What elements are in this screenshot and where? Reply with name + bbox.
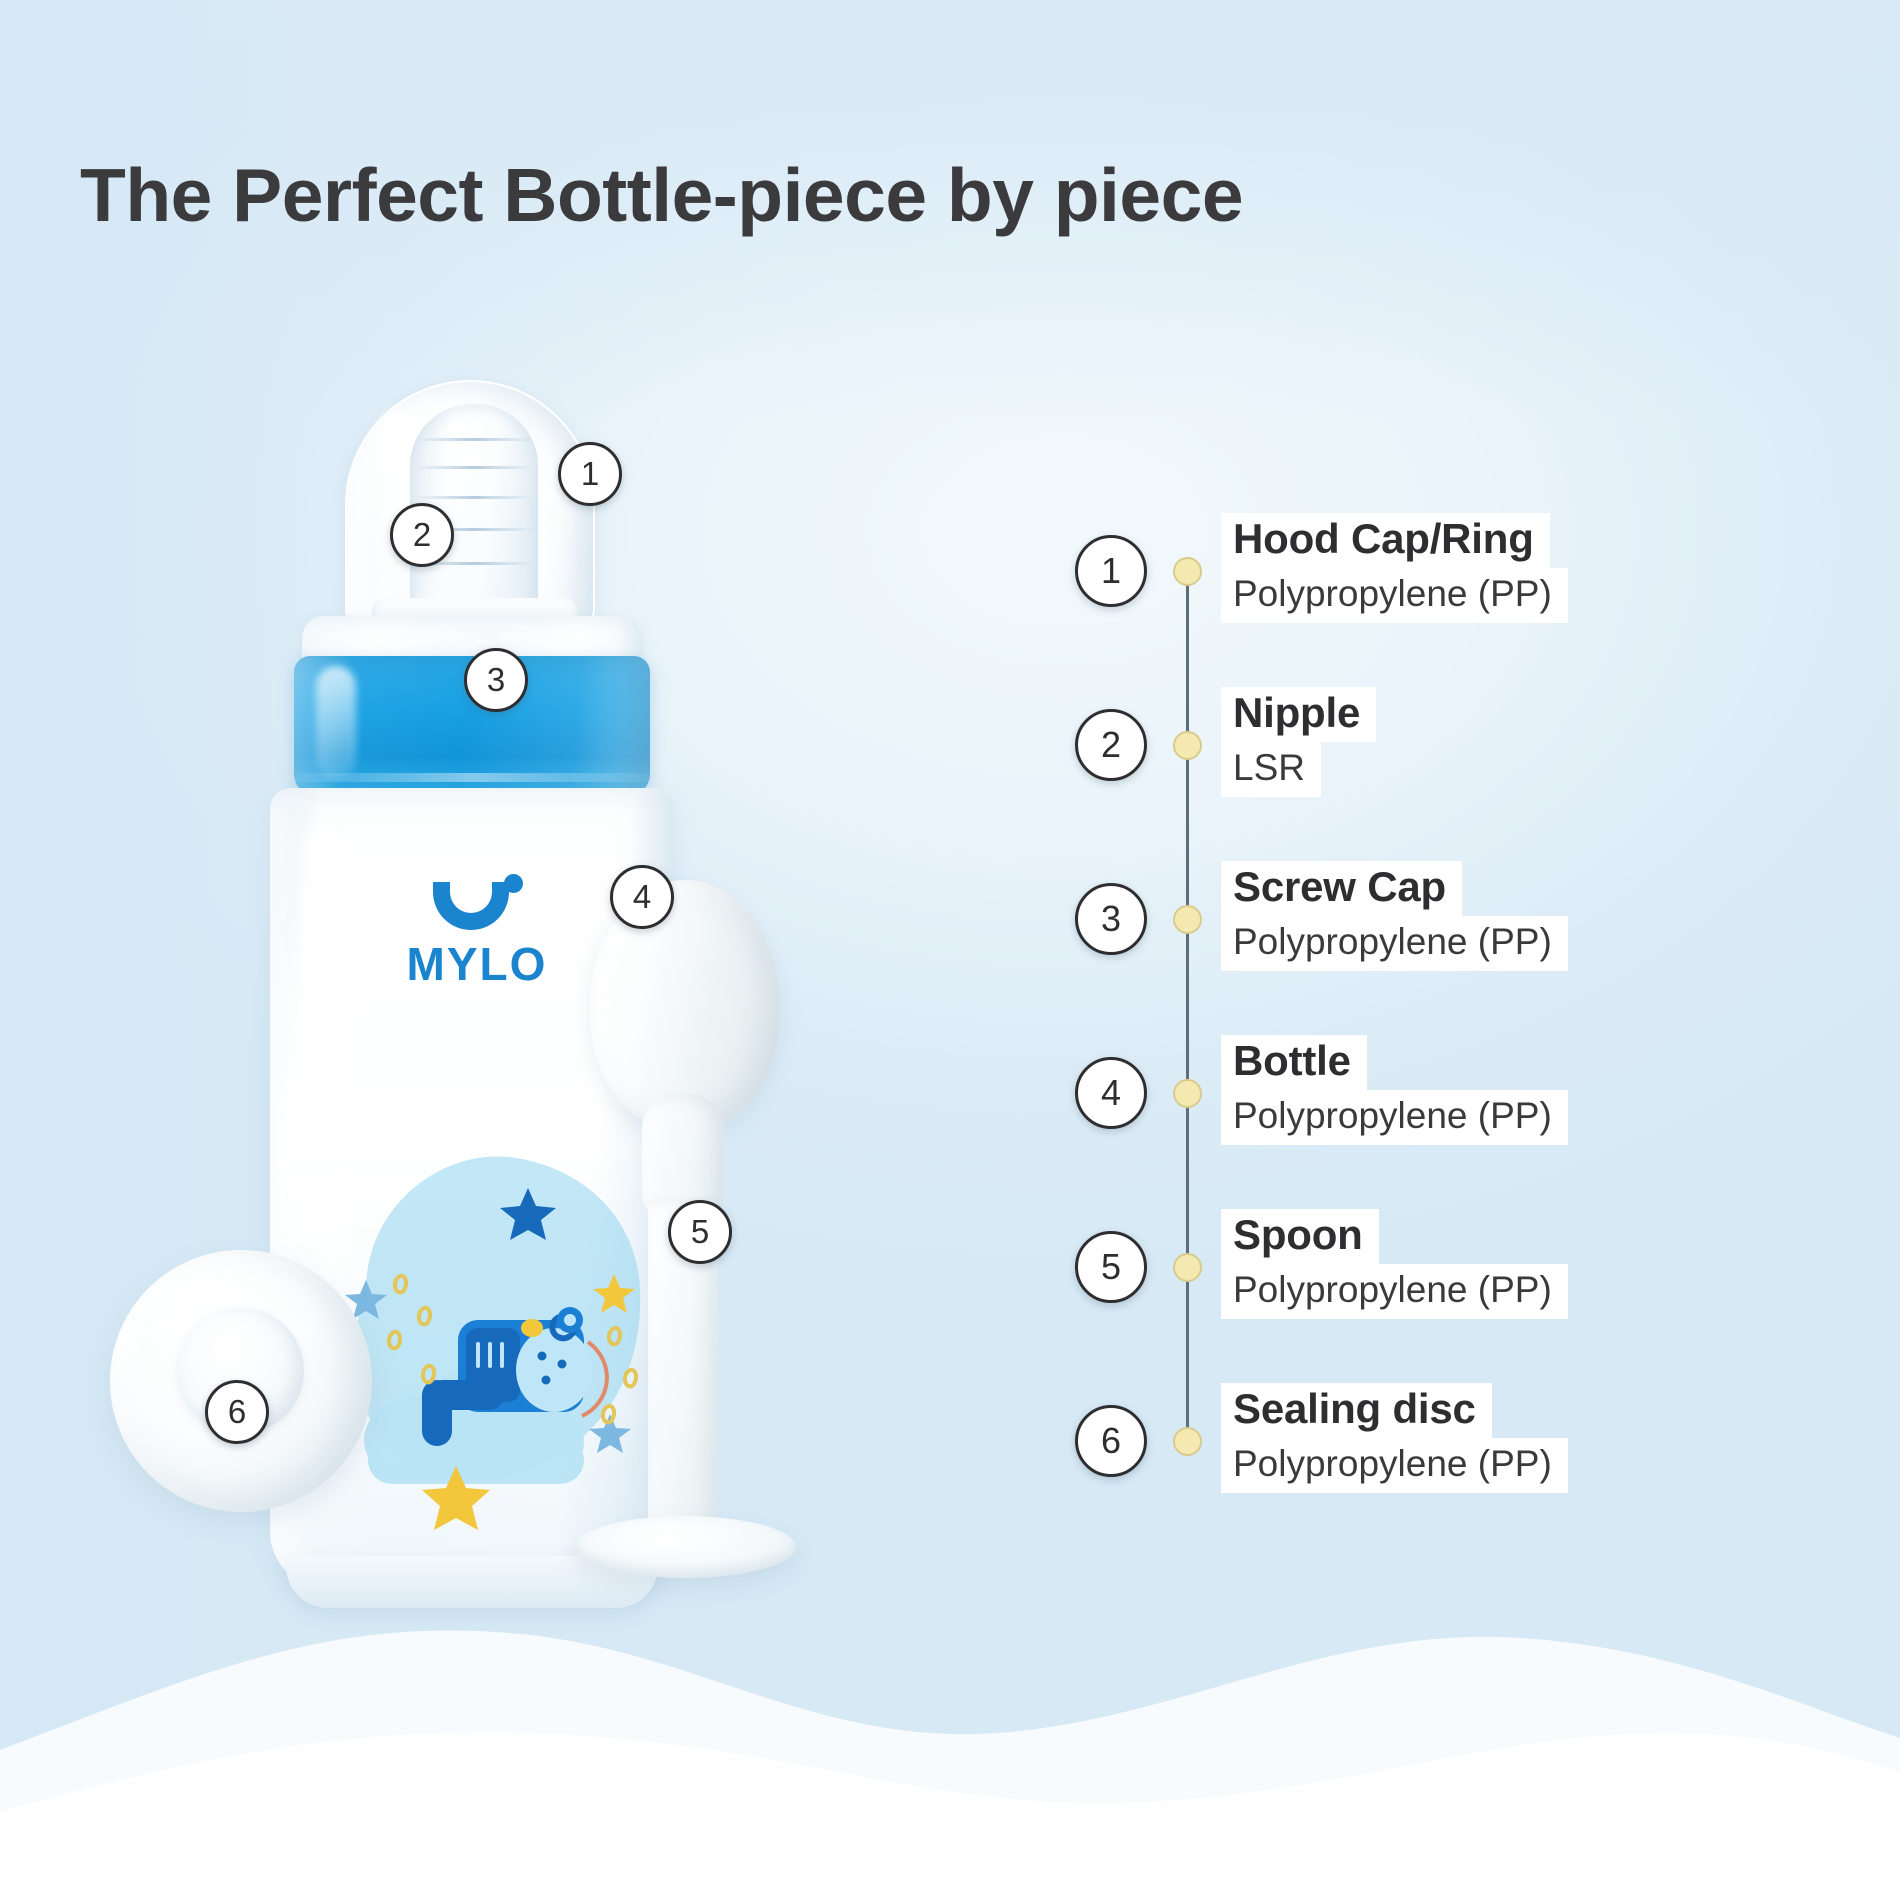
legend-text-3: Screw Cap Polypropylene (PP) <box>1221 861 1568 971</box>
legend-connector-dot-5 <box>1173 1253 1202 1282</box>
nipple-ridge <box>414 496 534 499</box>
legend-badge-2: 2 <box>1075 709 1147 781</box>
legend-title-6: Sealing disc <box>1221 1383 1492 1438</box>
legend-item-hood-cap-ring[interactable]: 1 Hood Cap/Ring Polypropylene (PP) <box>1075 495 1835 669</box>
legend-connector-dot-1 <box>1173 557 1202 586</box>
legend-badge-5: 5 <box>1075 1231 1147 1303</box>
callout-badge-1[interactable]: 1 <box>558 442 622 506</box>
product-image-stage: MYLO <box>90 380 890 1640</box>
legend-title-3: Screw Cap <box>1221 861 1462 916</box>
legend-title-1: Hood Cap/Ring <box>1221 513 1550 568</box>
legend-title-2: Nipple <box>1221 687 1376 742</box>
legend-text-5: Spoon Polypropylene (PP) <box>1221 1209 1568 1319</box>
callout-badge-6[interactable]: 6 <box>205 1380 269 1444</box>
legend-item-spoon[interactable]: 5 Spoon Polypropylene (PP) <box>1075 1191 1835 1365</box>
callout-badge-4[interactable]: 4 <box>610 865 674 929</box>
spoon-base <box>574 1516 796 1578</box>
spoon-neck <box>642 1094 724 1214</box>
legend-material-1: Polypropylene (PP) <box>1221 568 1568 623</box>
legend-item-sealing-disc[interactable]: 6 Sealing disc Polypropylene (PP) <box>1075 1365 1835 1539</box>
legend-item-nipple[interactable]: 2 Nipple LSR <box>1075 669 1835 843</box>
legend-connector-dot-4 <box>1173 1079 1202 1108</box>
page-title: The Perfect Bottle-piece by piece <box>80 152 1243 238</box>
legend-item-bottle[interactable]: 4 Bottle Polypropylene (PP) <box>1075 1017 1835 1191</box>
mylo-logo: MYLO <box>392 874 562 987</box>
legend-text-4: Bottle Polypropylene (PP) <box>1221 1035 1568 1145</box>
legend-material-6: Polypropylene (PP) <box>1221 1438 1568 1493</box>
mylo-smile-curve <box>433 882 509 930</box>
legend-material-2: LSR <box>1221 742 1321 797</box>
nipple-ridge <box>414 466 534 469</box>
mylo-wordmark: MYLO <box>392 941 562 987</box>
mylo-dot <box>504 874 523 893</box>
parts-legend: 1 Hood Cap/Ring Polypropylene (PP) 2 Nip… <box>1075 495 1835 1539</box>
legend-title-4: Bottle <box>1221 1035 1367 1090</box>
legend-badge-4: 4 <box>1075 1057 1147 1129</box>
legend-text-6: Sealing disc Polypropylene (PP) <box>1221 1383 1568 1493</box>
legend-text-1: Hood Cap/Ring Polypropylene (PP) <box>1221 513 1568 623</box>
mylo-smile-icon <box>425 874 529 936</box>
legend-connector-dot-3 <box>1173 905 1202 934</box>
legend-material-5: Polypropylene (PP) <box>1221 1264 1568 1319</box>
callout-badge-2[interactable]: 2 <box>390 503 454 567</box>
nipple-ridge <box>414 438 534 441</box>
legend-material-4: Polypropylene (PP) <box>1221 1090 1568 1145</box>
legend-item-screw-cap[interactable]: 3 Screw Cap Polypropylene (PP) <box>1075 843 1835 1017</box>
legend-title-5: Spoon <box>1221 1209 1379 1264</box>
legend-connector-dot-6 <box>1173 1427 1202 1456</box>
legend-material-3: Polypropylene (PP) <box>1221 916 1568 971</box>
callout-badge-3[interactable]: 3 <box>464 648 528 712</box>
screw-cap-highlight <box>316 666 356 778</box>
legend-badge-1: 1 <box>1075 535 1147 607</box>
legend-text-2: Nipple LSR <box>1221 687 1376 797</box>
legend-badge-3: 3 <box>1075 883 1147 955</box>
legend-badge-6: 6 <box>1075 1405 1147 1477</box>
legend-connector-dot-2 <box>1173 731 1202 760</box>
callout-badge-5[interactable]: 5 <box>668 1200 732 1264</box>
